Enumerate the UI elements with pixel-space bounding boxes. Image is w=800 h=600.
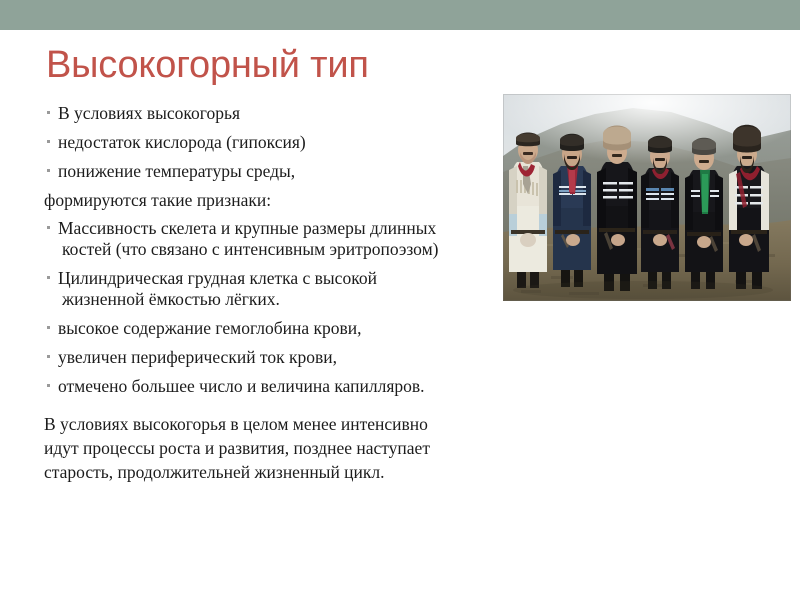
list-item-label: высокое содержание гемоглобина крови,	[58, 318, 524, 339]
bullet-icon	[47, 169, 50, 172]
list-item-label: формируются такие признаки:	[44, 190, 524, 211]
list-item-label: увеличен периферический ток крови,	[58, 347, 524, 368]
list-item: Цилиндрическая грудная клетка с высокой …	[44, 268, 524, 310]
list-item-no-bullet: формируются такие признаки:	[44, 190, 524, 211]
list-item-label: Цилиндрическая грудная клетка с высокой	[58, 268, 524, 289]
list-item: Массивность скелета и крупные размеры дл…	[44, 218, 524, 260]
list-item-label: отмечено большее число и величина капилл…	[58, 376, 524, 397]
closing-paragraph: В условиях высокогорья в целом менее инт…	[44, 412, 544, 484]
bullet-list: В условиях высокогорья недостаток кислор…	[44, 103, 524, 405]
list-item-label-cont: костей (что связано с интенсивным эритро…	[58, 239, 524, 260]
closing-line: идут процессы роста и развития, позднее …	[44, 436, 544, 460]
bullet-icon	[47, 355, 50, 358]
list-item: недостаток кислорода (гипоксия)	[44, 132, 524, 153]
page-title: Высокогорный тип	[46, 43, 369, 87]
list-item: отмечено большее число и величина капилл…	[44, 376, 524, 397]
list-item: В условиях высокогорья	[44, 103, 524, 124]
list-item-label: недостаток кислорода (гипоксия)	[58, 132, 524, 153]
list-item-label: понижение температуры среды,	[58, 161, 524, 182]
list-item-label-cont: жизненной ёмкостью лёгких.	[58, 289, 524, 310]
top-accent-bar	[0, 0, 800, 30]
list-item-label: Массивность скелета и крупные размеры дл…	[58, 218, 524, 239]
bullet-icon	[47, 384, 50, 387]
bullet-icon	[47, 276, 50, 279]
list-item: увеличен периферический ток крови,	[44, 347, 524, 368]
closing-line: старость, продолжительней жизненный цикл…	[44, 460, 544, 484]
slide: Высокогорный тип В условиях высокогорья …	[0, 0, 800, 600]
bullet-icon	[47, 111, 50, 114]
list-item: понижение температуры среды,	[44, 161, 524, 182]
closing-line: В условиях высокогорья в целом менее инт…	[44, 412, 544, 436]
bullet-icon	[47, 140, 50, 143]
bullet-icon	[47, 326, 50, 329]
list-item-label: В условиях высокогорья	[58, 103, 524, 124]
mountain-group-photo	[503, 94, 791, 301]
list-item: высокое содержание гемоглобина крови,	[44, 318, 524, 339]
bullet-icon	[47, 226, 50, 229]
